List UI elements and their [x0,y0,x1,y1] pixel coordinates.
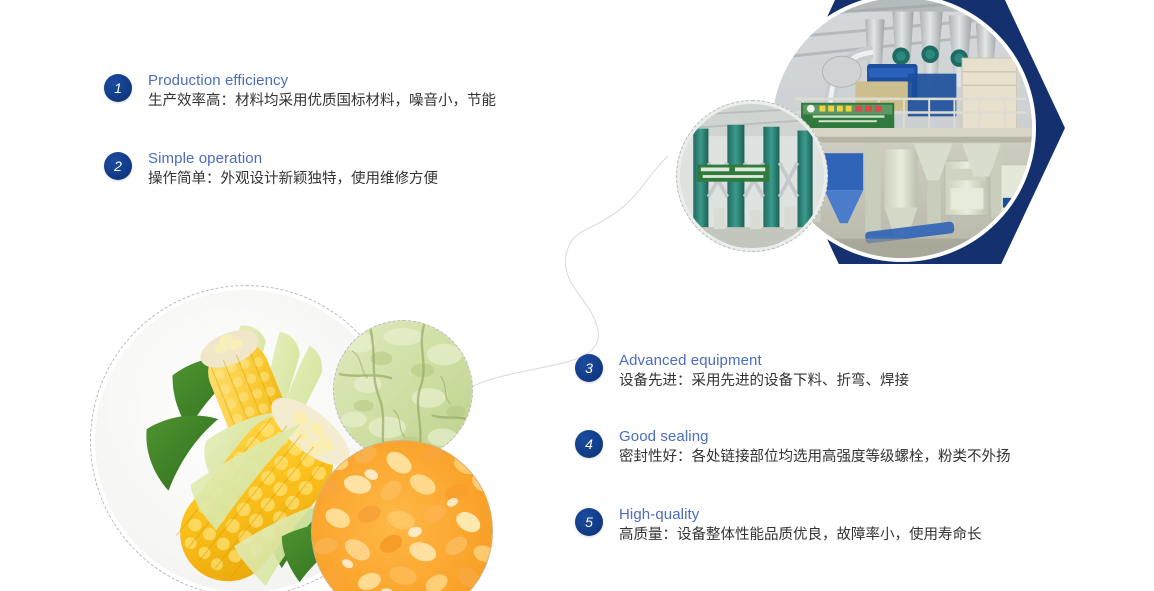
feature-badge-1: 1 [104,74,132,102]
feature-description-4: 密封性好：各处链接部位均选用高强度等级螺栓，粉类不外扬 [619,447,1011,468]
feature-item-4: 4 Good sealing 密封性好：各处链接部位均选用高强度等级螺栓，粉类不… [575,430,1011,468]
feature-text-1: Production efficiency 生产效率高：材料均采用优质国标材料，… [148,71,496,112]
feature-heading-1: Production efficiency [148,71,496,90]
corn-paste-photo [333,320,473,460]
feature-heading-2: Simple operation [148,149,438,168]
feature-description-2: 操作简单：外观设计新颖独特，使用维修方便 [148,169,438,190]
feature-text-2: Simple operation 操作简单：外观设计新颖独特，使用维修方便 [148,149,438,190]
feature-item-5: 5 High-quality 高质量：设备整体性能品质优良，故障率小，使用寿命长 [575,508,982,546]
factory-secondary-photo [676,100,828,252]
feature-badge-4: 4 [575,430,603,458]
feature-item-1: 1 Production efficiency 生产效率高：材料均采用优质国标材… [104,74,496,112]
feature-badge-2: 2 [104,152,132,180]
feature-badge-3: 3 [575,354,603,382]
feature-text-4: Good sealing 密封性好：各处链接部位均选用高强度等级螺栓，粉类不外扬 [619,427,1011,468]
feature-description-3: 设备先进：采用先进的设备下料、折弯、焊接 [619,371,909,392]
feature-description-1: 生产效率高：材料均采用优质国标材料，噪音小，节能 [148,91,496,112]
feature-item-2: 2 Simple operation 操作简单：外观设计新颖独特，使用维修方便 [104,152,438,190]
infographic-stage: 1 Production efficiency 生产效率高：材料均采用优质国标材… [0,0,1154,591]
feature-text-5: High-quality 高质量：设备整体性能品质优良，故障率小，使用寿命长 [619,505,982,546]
feature-heading-4: Good sealing [619,427,1011,446]
corn-grits-photo [311,440,493,591]
feature-heading-3: Advanced equipment [619,351,909,370]
feature-description-5: 高质量：设备整体性能品质优良，故障率小，使用寿命长 [619,525,982,546]
feature-item-3: 3 Advanced equipment 设备先进：采用先进的设备下料、折弯、焊… [575,354,909,392]
feature-heading-5: High-quality [619,505,982,524]
factory-photo-hexagon-group [660,0,1080,282]
feature-badge-5: 5 [575,508,603,536]
feature-text-3: Advanced equipment 设备先进：采用先进的设备下料、折弯、焊接 [619,351,909,392]
corn-product-circles-group [82,283,502,591]
